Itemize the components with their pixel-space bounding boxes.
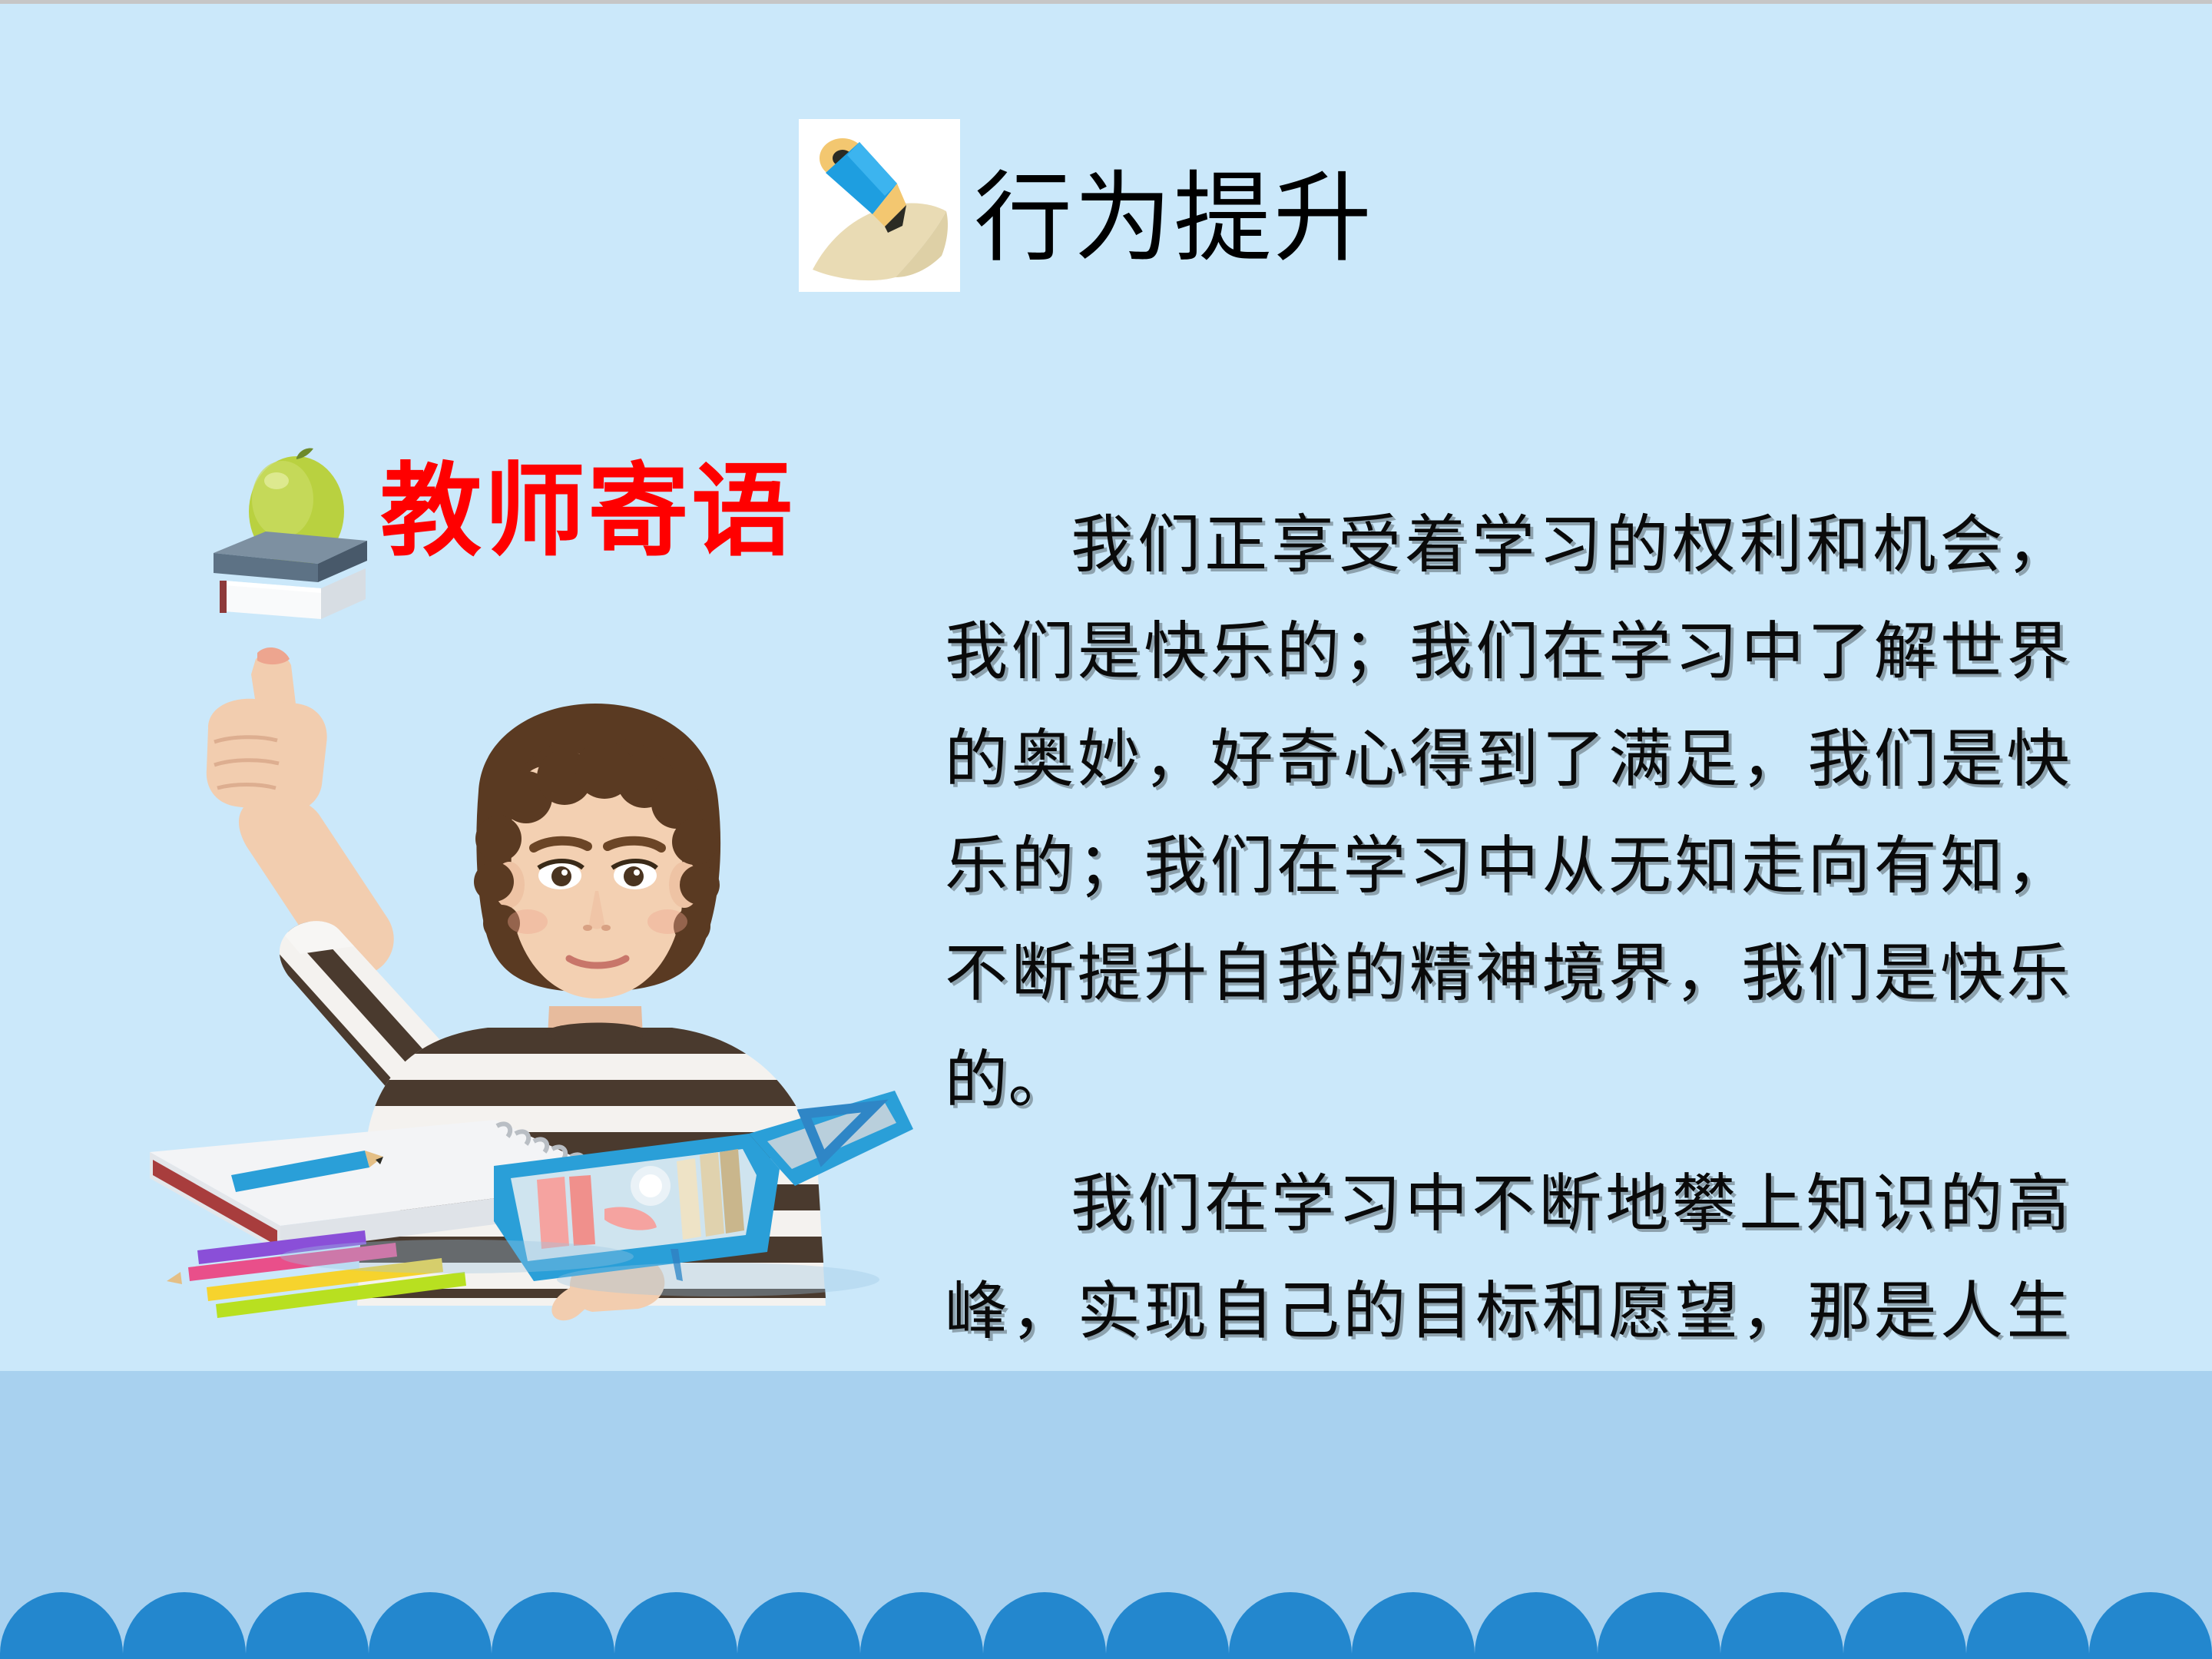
teacher-message-body: 我们正享受着学习的权利和机会，我们是快乐的；我们在学习中了解世界的奥妙，好奇心得… [945, 492, 2070, 1472]
boy-raising-hand-photo [134, 637, 926, 1436]
pencil-writing-on-paper-icon [799, 119, 960, 292]
bottom-decoration-band [0, 1371, 2212, 1659]
teacher-message-heading: 教师寄语 [380, 461, 795, 562]
slide-title-block: 行为提升 [799, 119, 1373, 292]
scallop-arch-row-front [0, 1600, 2212, 1659]
message-paragraph-1: 我们正享受着学习的权利和机会，我们是快乐的；我们在学习中了解世界的奥妙，好奇心得… [945, 492, 2070, 1134]
apple-on-book-icon [206, 445, 371, 626]
page-title: 行为提升 [974, 170, 1373, 268]
slide-canvas: 行为提升 教师寄语 [0, 0, 2212, 1659]
top-edge-rule [0, 0, 2212, 4]
